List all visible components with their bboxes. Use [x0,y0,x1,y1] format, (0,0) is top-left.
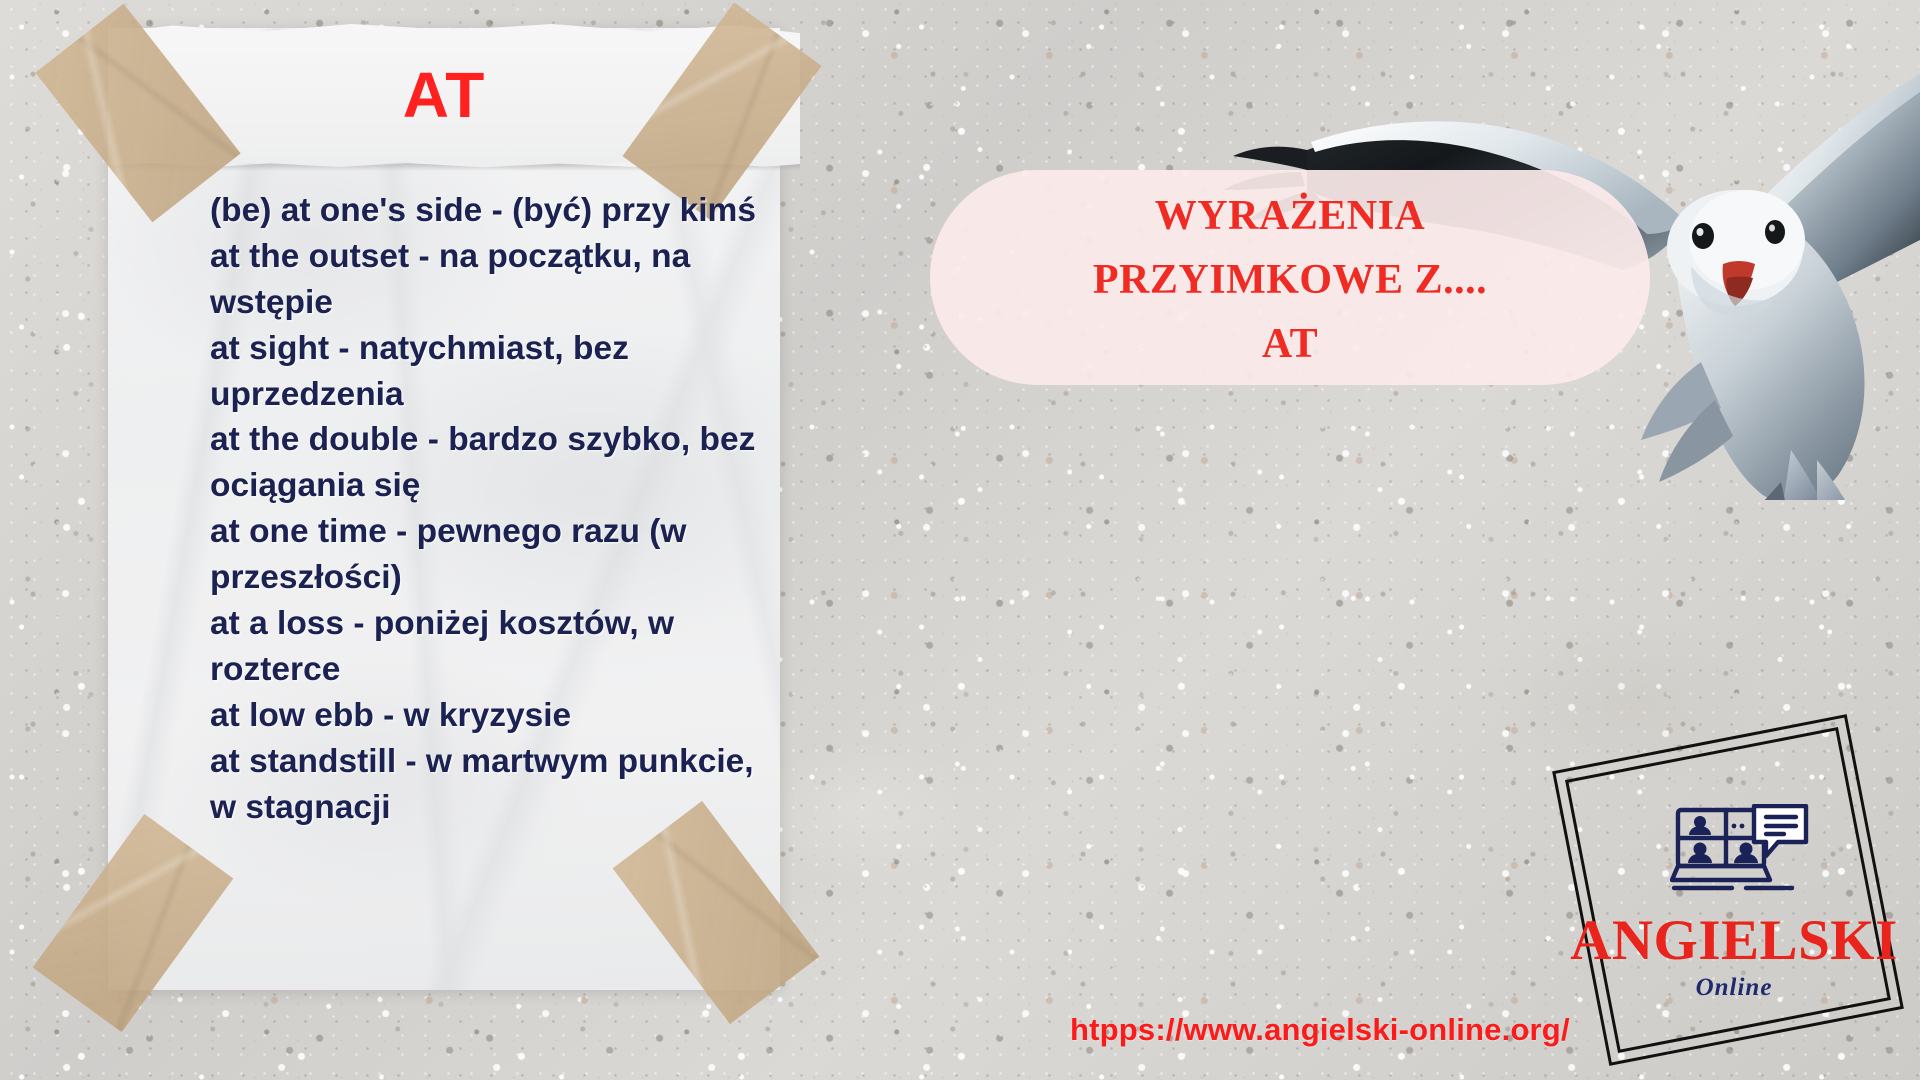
phrase-entry: at sight - natychmiast, bez uprzedzenia [210,326,780,418]
poster-canvas: WYRAŻENIA PRZYIMKOWE Z.... AT AT (be) at… [0,0,1920,1080]
brand-logo: ANGIELSKI Online [1548,712,1920,1080]
plaque-line-1: WYRAŻENIA [930,185,1650,249]
phrase-entry: at the double - bardzo szybko, bez ociąg… [210,417,780,509]
paper-note: AT (be) at one's side - (być) przy kimś … [60,10,830,1020]
website-url[interactable]: htpps://www.angielski-online.org/ [1070,1012,1570,1048]
note-phrase-list: (be) at one's side - (być) przy kimś at … [210,188,780,830]
plaque-line-3: AT [930,313,1650,377]
title-plaque: WYRAŻENIA PRZYIMKOWE Z.... AT [930,185,1650,376]
phrase-entry: at a loss - poniżej kosztów, w rozterce [210,601,780,693]
video-conference-laptop-icon [1670,804,1810,896]
phrase-entry: at the outset - na początku, na wstępie [210,234,780,326]
logo-name: ANGIELSKI [1548,908,1920,973]
logo-subtitle: Online [1548,974,1920,1002]
note-title: AT [108,58,780,132]
phrase-entry: at standstill - w martwym punkcie, w sta… [210,739,780,831]
phrase-entry: at one time - pewnego razu (w przeszłośc… [210,509,780,601]
plaque-line-2: PRZYIMKOWE Z.... [930,249,1650,313]
phrase-entry: (be) at one's side - (być) przy kimś [210,188,780,234]
phrase-entry: at low ebb - w kryzysie [210,693,780,739]
